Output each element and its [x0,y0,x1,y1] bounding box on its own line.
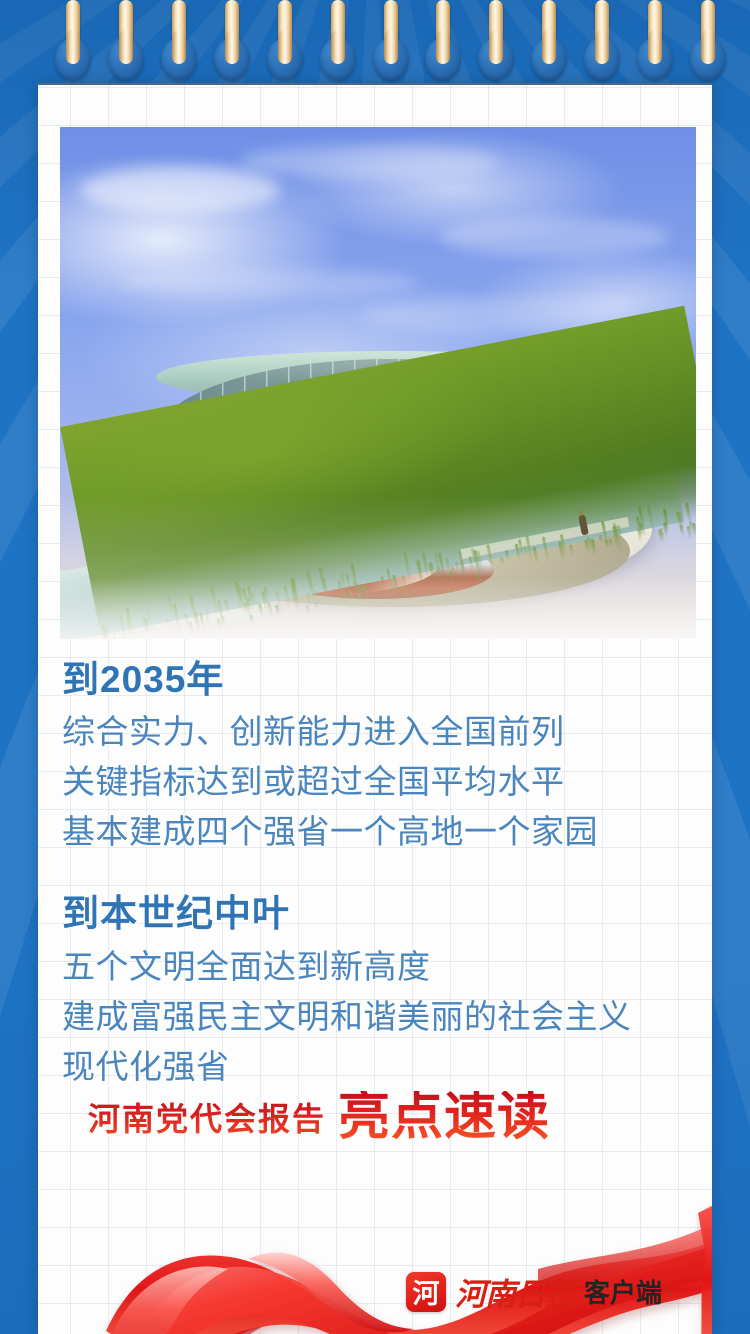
ring-wire-front [595,30,609,64]
logo-name: 河南日报 [455,1269,575,1314]
ring-wire-front [701,30,715,64]
ring-wire-front [542,30,556,64]
headline: 河南党代会报告 亮点速读 [88,1091,550,1143]
block2-line-1: 五个文明全面达到新高度 [62,942,692,992]
spiral-binding [0,0,750,130]
ring-wire-front [172,30,186,64]
ring-wire-front [225,30,239,64]
headline-small: 河南党代会报告 [88,1094,326,1143]
headline-big: 亮点速读 [338,1091,550,1143]
ring-wire-front [436,30,450,64]
block2-line-2: 建成富强民主文明和谐美丽的社会主义 [62,992,692,1042]
logo-mark-icon: 河 [406,1272,446,1312]
block2-heading: 到本世纪中叶 [62,887,692,941]
copy-block: 到2035年 综合实力、创新能力进入全国前列 关键指标达到或超过全国平均水平 基… [62,653,692,1092]
ring-wire-front [66,30,80,64]
copy-spacer [62,857,692,887]
henan-daily-logo[interactable]: 河 河南日报 客户端 [406,1269,662,1314]
block1-line-3: 基本建成四个强省一个高地一个家园 [62,807,692,857]
ring-wire-front [331,30,345,64]
block2-line-3: 现代化强省 [62,1042,692,1092]
logo-suffix: 客户端 [584,1273,662,1310]
notebook-page: 到2035年 综合实力、创新能力进入全国前列 关键指标达到或超过全国平均水平 基… [38,83,712,1334]
ring-wire-front [278,30,292,64]
block1-heading: 到2035年 [62,653,692,707]
block1-line-1: 综合实力、创新能力进入全国前列 [62,707,692,757]
poster-root: 到2035年 综合实力、创新能力进入全国前列 关键指标达到或超过全国平均水平 基… [0,0,750,1334]
hero-photo [60,127,696,639]
ring-wire-front [384,30,398,64]
ring-wire-front [119,30,133,64]
block1-line-2: 关键指标达到或超过全国平均水平 [62,757,692,807]
ring-wire-front [489,30,503,64]
ring-wire-front [648,30,662,64]
